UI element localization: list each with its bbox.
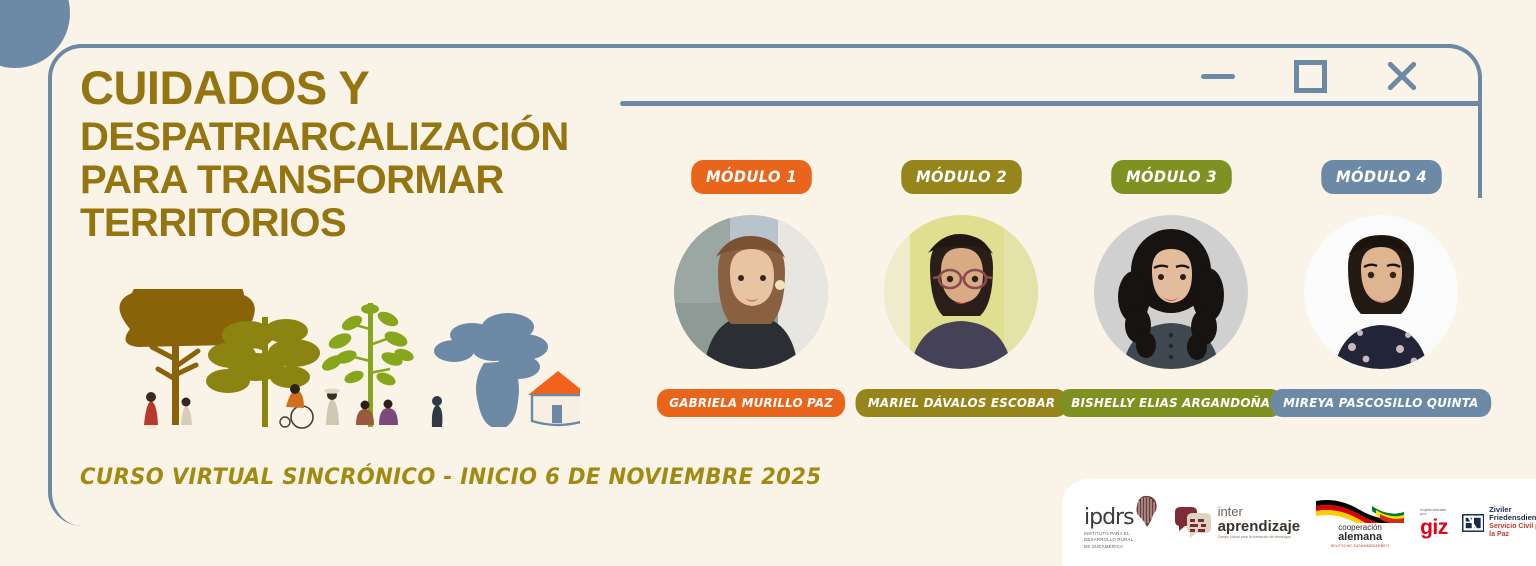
window-controls bbox=[1195, 52, 1425, 100]
figures-group-1 bbox=[144, 392, 192, 429]
avatar bbox=[674, 215, 828, 369]
avatar bbox=[1094, 215, 1248, 369]
interaprendizaje-tagline: Campo virtual para la formación de lider… bbox=[1218, 536, 1301, 540]
tree-olive bbox=[206, 317, 320, 427]
logo-giz: Implementado por: giz bbox=[1420, 508, 1448, 537]
figure-walking bbox=[432, 396, 443, 427]
aprendizaje-line: aprendizaje bbox=[1218, 519, 1301, 534]
giz-label: Implementado por: bbox=[1420, 508, 1448, 516]
page-title: CUIDADOS Y DESPATRIARCALIZACIÓN PARA TRA… bbox=[80, 64, 600, 243]
close-icon bbox=[1383, 57, 1421, 95]
speech-bubbles-icon bbox=[1173, 506, 1213, 540]
cooperacion-wordmark: cooperación alemana DEUTSCHE ZUSAMMENARB… bbox=[1331, 524, 1390, 549]
minimize-icon bbox=[1201, 74, 1235, 79]
window-frame-right-edge bbox=[1478, 78, 1482, 198]
maximize-button[interactable] bbox=[1287, 53, 1333, 99]
poster-canvas: CUIDADOS Y DESPATRIARCALIZACIÓN PARA TRA… bbox=[0, 0, 1536, 566]
cooperacion-line2: alemana bbox=[1338, 532, 1382, 544]
inter-line: inter bbox=[1218, 505, 1301, 518]
module-badge[interactable]: MÓDULO 3 bbox=[1111, 160, 1231, 194]
module-cards: MÓDULO 1 GABRIELA MURILLO PAZ bbox=[656, 160, 1476, 440]
title-line-1: CUIDADOS Y bbox=[80, 64, 600, 111]
title-line-2: DESPATRIARCALIZACIÓN bbox=[80, 117, 600, 157]
hero-panel: CUIDADOS Y DESPATRIARCALIZACIÓN PARA TRA… bbox=[80, 64, 600, 484]
figure-wheelchair bbox=[280, 384, 313, 428]
zfd-wordmark: Ziviler Friedensdienst Servicio Civil pa… bbox=[1489, 506, 1536, 540]
window-frame-top-right-corner bbox=[1418, 44, 1482, 108]
maximize-icon bbox=[1294, 60, 1327, 93]
zfd-line2: Servicio Civil para la Paz bbox=[1489, 523, 1536, 539]
interaprendizaje-wordmark: inter aprendizaje Campo virtual para la … bbox=[1218, 505, 1301, 540]
presenter-name: GABRIELA MURILLO PAZ bbox=[657, 389, 845, 417]
presenter-name: MIREYA PASCOSILLO QUINTA bbox=[1271, 389, 1491, 417]
module-card[interactable]: MÓDULO 4 bbox=[1286, 160, 1476, 440]
close-button[interactable] bbox=[1379, 53, 1425, 99]
title-line-4: TERRITORIOS bbox=[80, 203, 600, 243]
minimize-button[interactable] bbox=[1195, 53, 1241, 99]
module-card[interactable]: MÓDULO 3 bbox=[1076, 160, 1266, 440]
title-line-3: PARA TRANSFORMAR bbox=[80, 160, 600, 200]
logo-cooperacion-alemana: cooperación alemana DEUTSCHE ZUSAMMENARB… bbox=[1314, 497, 1406, 549]
module-badge[interactable]: MÓDULO 4 bbox=[1321, 160, 1441, 194]
zfd-line1: Ziviler Friedensdienst bbox=[1489, 506, 1536, 523]
module-badge[interactable]: MÓDULO 1 bbox=[691, 160, 811, 194]
hut-orange-roof bbox=[528, 371, 580, 425]
logo-ipdrs: ipdrs INSTITUTO PARA EL DESARROLLO RURAL… bbox=[1084, 495, 1159, 550]
giz-wordmark: giz bbox=[1420, 519, 1448, 537]
german-bolivian-flag-icon bbox=[1314, 497, 1406, 523]
avatar bbox=[1304, 215, 1458, 369]
course-subtitle: CURSO VIRTUAL SINCRÓNICO - INICIO 6 DE N… bbox=[80, 464, 821, 490]
presenter-name: BISHELLY ELIAS ARGANDOÑA bbox=[1059, 389, 1283, 417]
ipdrs-wordmark: ipdrs bbox=[1084, 507, 1134, 529]
avatar bbox=[884, 215, 1038, 369]
presenter-name: MARIEL DÁVALOS ESCOBAR bbox=[855, 389, 1067, 417]
trees-illustration bbox=[80, 289, 580, 449]
cooperacion-line3: DEUTSCHE ZUSAMMENARBEIT bbox=[1331, 545, 1390, 549]
ipdrs-subtitle: INSTITUTO PARA EL DESARROLLO RURAL DE SU… bbox=[1084, 531, 1133, 550]
logo-interaprendizaje: inter aprendizaje Campo virtual para la … bbox=[1173, 505, 1301, 540]
zfd-emblem-icon bbox=[1462, 510, 1484, 536]
ipdrs-map-icon bbox=[1135, 495, 1159, 529]
window-header-divider bbox=[620, 101, 1482, 106]
module-card[interactable]: MÓDULO 2 bbox=[866, 160, 1056, 440]
figures-group-2 bbox=[324, 388, 398, 425]
module-card[interactable]: MÓDULO 1 GABRIELA MURILLO PAZ bbox=[656, 160, 846, 440]
logo-zfd: Ziviler Friedensdienst Servicio Civil pa… bbox=[1462, 506, 1536, 540]
module-badge[interactable]: MÓDULO 2 bbox=[901, 160, 1021, 194]
partner-logos: ipdrs INSTITUTO PARA EL DESARROLLO RURAL… bbox=[1062, 479, 1536, 566]
